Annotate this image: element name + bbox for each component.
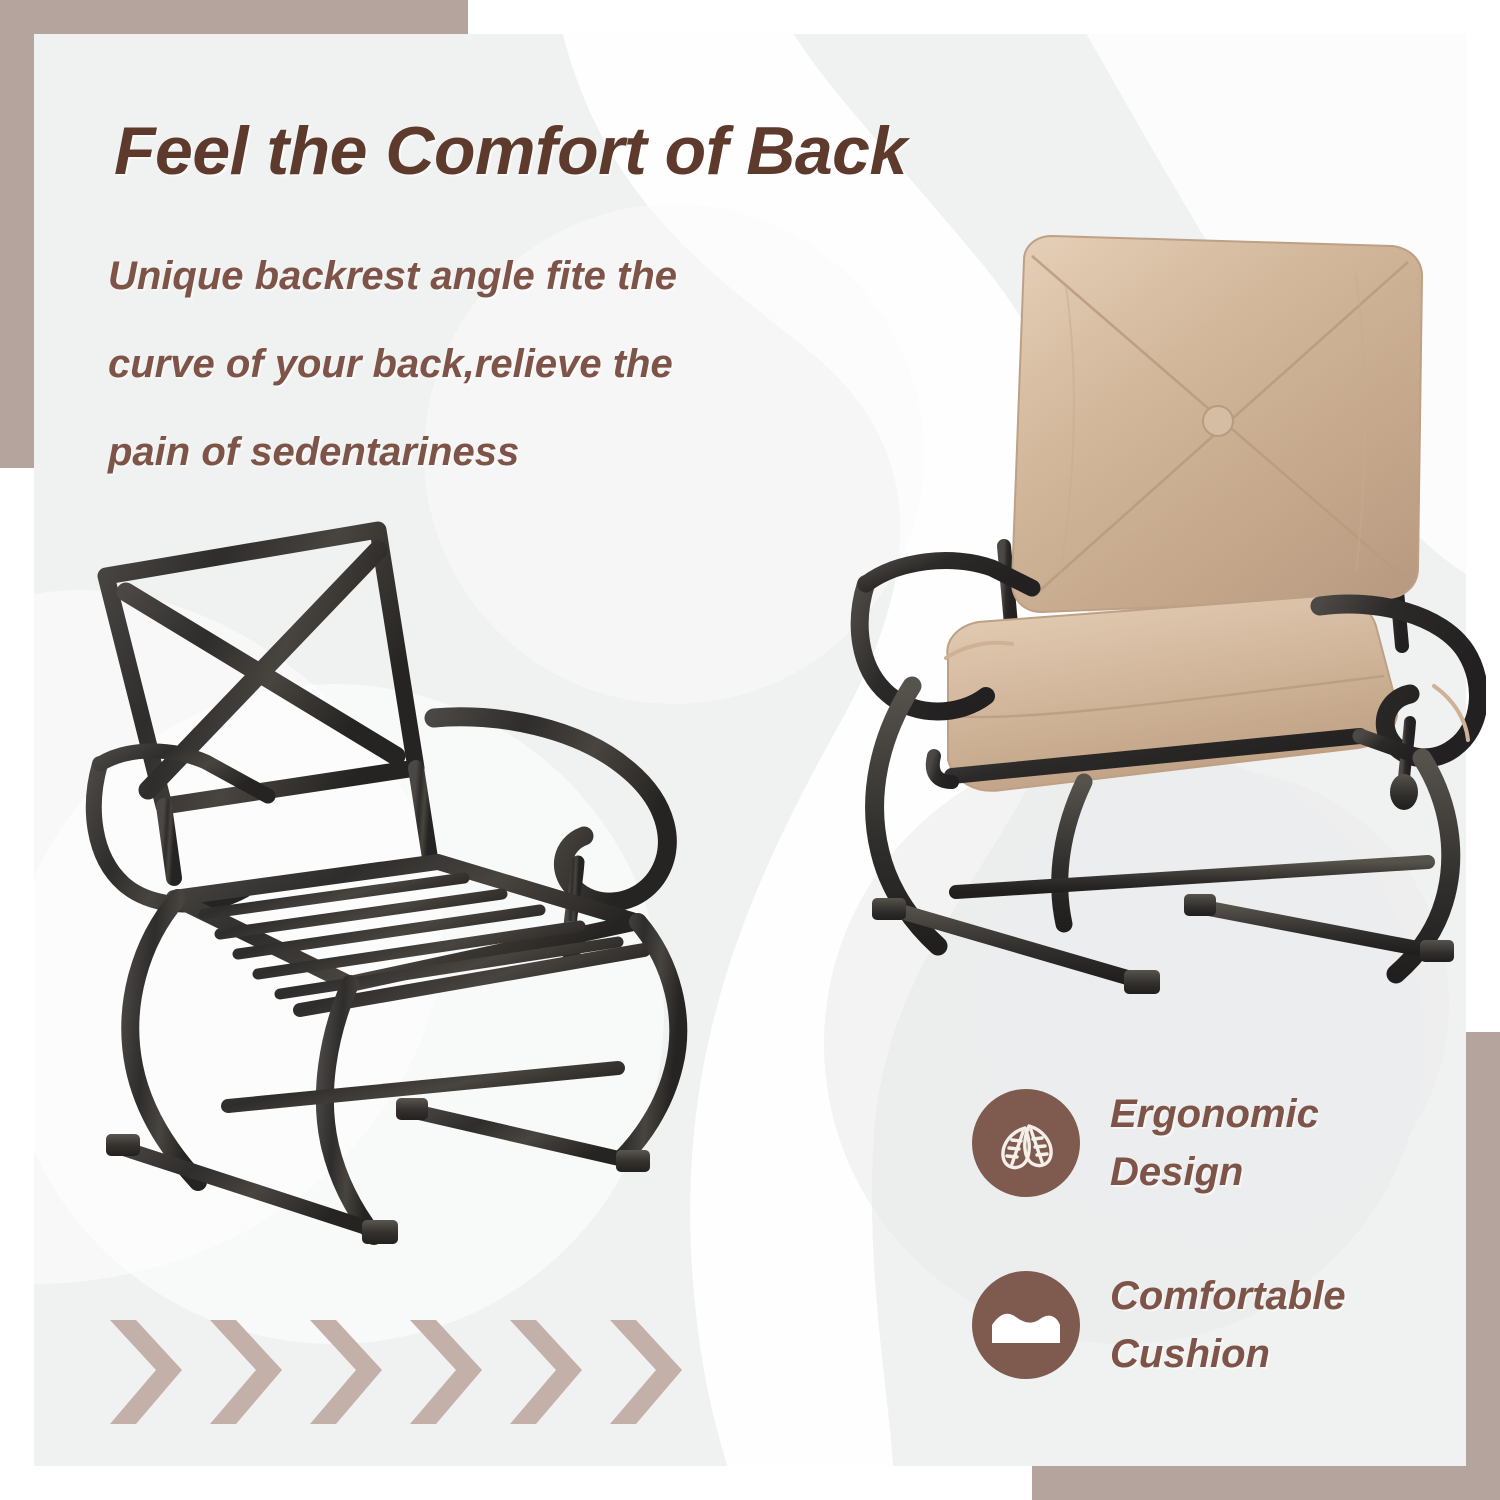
cushion-icon	[972, 1271, 1080, 1379]
feature-badge-label: Ergonomic Design	[1110, 1085, 1319, 1201]
product-image-cushioned-chair	[836, 216, 1486, 1046]
corner-bracket-top-left-horizontal	[0, 0, 468, 34]
product-infographic: Feel the Comfort of Back Unique backrest…	[0, 0, 1500, 1500]
feature-label-line-2: Cushion	[1110, 1325, 1346, 1383]
subcopy-line-1: Unique backrest angle fite the	[108, 232, 868, 320]
subcopy-block: Unique backrest angle fite the curve of …	[108, 232, 868, 496]
feature-label-line-2: Design	[1110, 1143, 1319, 1201]
corner-bracket-bottom-right-vertical	[1466, 1032, 1500, 1500]
corner-bracket-top-left-vertical	[0, 0, 34, 468]
chevron-arrow-row	[110, 1306, 730, 1438]
subcopy-line-3: pain of sedentariness	[108, 408, 868, 496]
feature-label-line-1: Ergonomic	[1110, 1085, 1319, 1143]
feature-badge-comfortable-cushion: Comfortable Cushion	[972, 1250, 1346, 1400]
leaf-icon	[972, 1089, 1080, 1197]
subcopy-line-2: curve of your back,relieve the	[108, 320, 868, 408]
feature-badge-label: Comfortable Cushion	[1110, 1267, 1346, 1383]
page-title: Feel the Comfort of Back	[114, 112, 907, 190]
product-image-metal-chair-frame	[78, 506, 738, 1276]
corner-bracket-bottom-right-horizontal	[1032, 1466, 1500, 1500]
feature-badge-ergonomic-design: Ergonomic Design	[972, 1068, 1346, 1218]
feature-badge-list: Ergonomic Design Comfortable Cushion	[972, 1068, 1346, 1400]
feature-label-line-1: Comfortable	[1110, 1267, 1346, 1325]
